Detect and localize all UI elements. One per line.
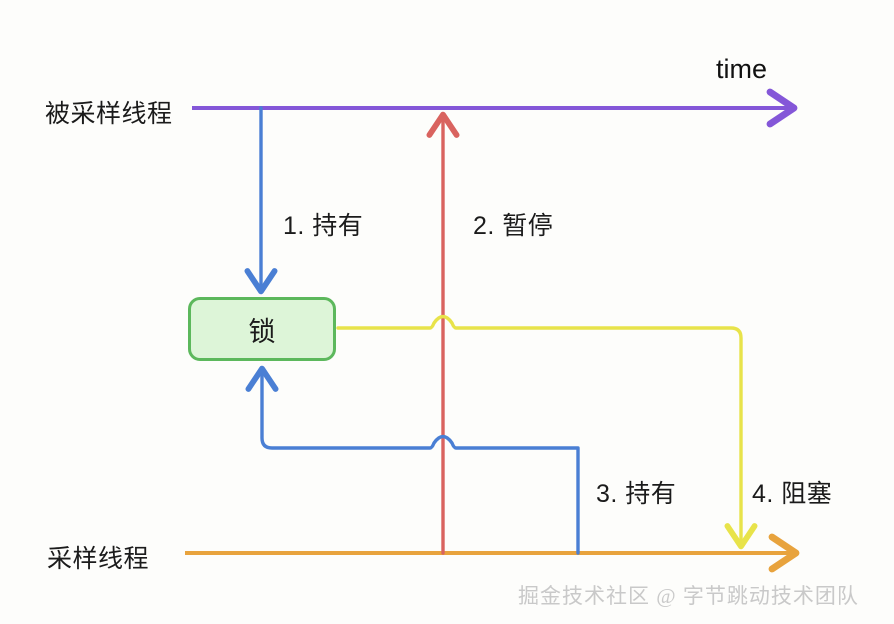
lock-box-label: 锁: [249, 310, 276, 349]
sampling-thread-label: 采样线程: [47, 539, 149, 575]
time-axis-label: time: [716, 54, 767, 85]
step-2-pause-label: 2. 暂停: [473, 206, 553, 242]
watermark: 掘金技术社区 @ 字节跳动技术团队: [518, 580, 859, 610]
sampled-thread-label: 被采样线程: [45, 94, 173, 130]
step-1-hold-label: 1. 持有: [283, 206, 363, 242]
lock-box: 锁: [188, 297, 336, 361]
step-3-hold-label: 3. 持有: [596, 474, 676, 510]
step-4-block-label: 4. 阻塞: [752, 474, 832, 510]
edge-step-4-block: [338, 317, 741, 544]
edge-step-3-hold: [262, 372, 578, 553]
diagram-canvas: 锁 time 被采样线程 采样线程 1. 持有 2. 暂停 3. 持有 4. 阻…: [0, 0, 894, 624]
